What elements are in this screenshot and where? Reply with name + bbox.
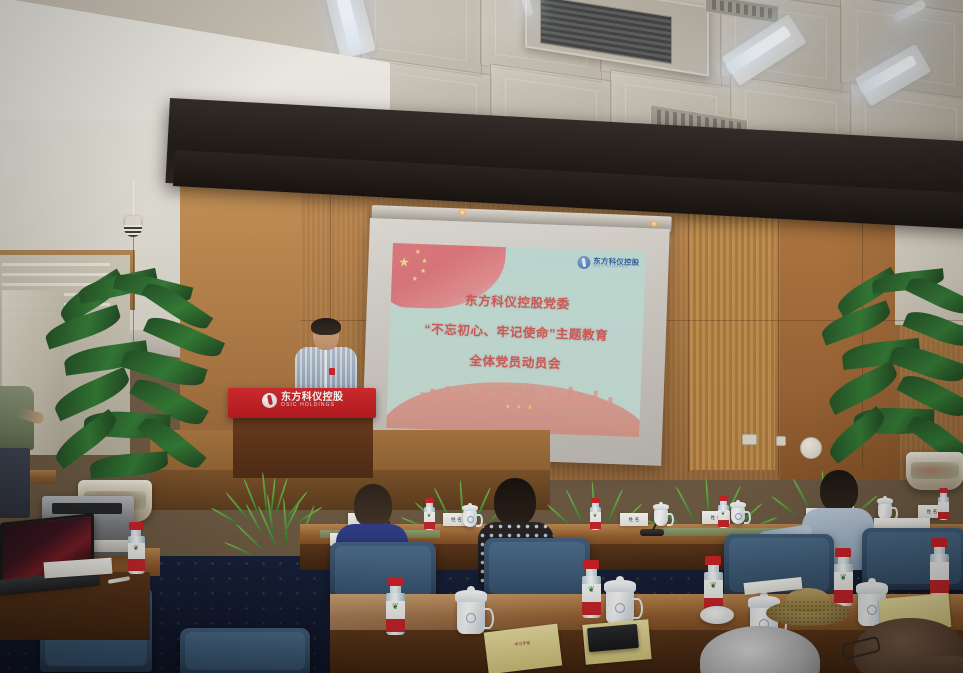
flag-star-icon: ★	[420, 268, 427, 275]
person-legs	[0, 448, 30, 518]
foreground-shoulder	[884, 656, 963, 673]
flag-star-icon: ★	[421, 258, 428, 265]
notebook-dark	[587, 624, 639, 652]
water-bottle: ❦	[718, 496, 729, 528]
water-bottle	[938, 488, 949, 520]
bottle-leaf-icon: ❦	[427, 514, 431, 519]
power-socket	[742, 434, 757, 445]
slide-logo: 东方科仪控股 OSIC HOLDINGS	[577, 256, 640, 271]
ceramic-tea-mug	[653, 502, 671, 526]
ceramic-tea-mug	[877, 496, 895, 520]
flag-star-icon: ★	[412, 276, 419, 283]
conference-room-photo: ★ ★ ★ ★ ★ 东方科仪控股 OSIC HOLDINGS 东方科仪控股党委 …	[0, 0, 963, 673]
printer-paper-slot	[52, 503, 122, 514]
standing-person-left	[0, 386, 38, 536]
foreground-person-gray-1	[700, 626, 820, 673]
mug-logo-icon	[615, 603, 625, 613]
slide-logo-en: OSIC HOLDINGS	[593, 265, 639, 270]
chair[interactable]	[180, 628, 310, 673]
person-head	[820, 470, 858, 512]
mug-logo-icon	[735, 513, 742, 520]
flag-star-icon: ★	[415, 249, 422, 256]
bottle-leaf-icon: ❦	[588, 587, 595, 592]
person-head	[494, 478, 536, 526]
water-bottle: ❦	[386, 577, 405, 635]
slide-line-3: 全体党员动员会	[388, 347, 642, 375]
power-socket	[776, 436, 786, 446]
water-bottle: ❦	[424, 498, 435, 530]
bottle-leaf-icon: ❦	[721, 512, 725, 517]
mug-logo-icon	[466, 613, 476, 623]
podium-body	[233, 416, 373, 478]
ceramic-tea-mug	[730, 500, 748, 524]
bottle-leaf-icon: ❦	[133, 546, 139, 551]
party-badge	[329, 368, 335, 375]
bottle-leaf-icon: ❦	[593, 514, 597, 519]
water-bottle: ❦	[128, 522, 145, 574]
straw-hat	[766, 588, 850, 626]
presenter	[295, 318, 357, 394]
ceramic-tea-mug	[455, 586, 491, 634]
study-booklet: 学习手册	[484, 624, 563, 673]
water-bottle: ❦	[582, 560, 601, 618]
flag-star-icon: ★	[398, 255, 410, 268]
ceramic-tea-mug	[604, 576, 640, 624]
osic-logo-icon	[577, 256, 590, 269]
palm-plant-right	[820, 272, 963, 482]
water-bottle	[930, 538, 949, 596]
slide-line-1: 东方科仪控股党委	[391, 287, 645, 315]
podium-brand-en: OSIC HOLDINGS	[281, 403, 343, 409]
water-bottle: ❦	[590, 498, 601, 530]
presentation-slide: ★ ★ ★ ★ ★ 东方科仪控股 OSIC HOLDINGS 东方科仪控股党委 …	[386, 243, 646, 437]
osic-logo-icon	[262, 393, 277, 408]
booklet-title: 学习手册	[485, 636, 559, 651]
person-head	[354, 484, 392, 528]
name-card-text: 姓 名	[620, 517, 648, 523]
hat-texture	[766, 600, 850, 626]
chair[interactable]	[484, 538, 590, 600]
palm-plant-left	[44, 272, 234, 502]
bottle-leaf-icon: ❦	[392, 604, 399, 609]
person-head	[700, 626, 820, 673]
plant-pot-right	[906, 452, 963, 490]
slide-line-2: “不忘初心、牢记使命”主题教育	[390, 317, 644, 345]
mug-logo-icon	[467, 516, 474, 523]
mug-logo-icon	[867, 605, 877, 615]
spider-plant-table-1	[236, 492, 310, 544]
bottle-leaf-icon: ❦	[710, 583, 717, 588]
slide-stars: ★ ★ ★	[505, 403, 535, 411]
camera-cable	[133, 180, 134, 218]
presenter-hair	[311, 318, 341, 335]
podium-logo: 东方科仪控股 OSIC HOLDINGS	[262, 392, 343, 409]
saucer-plate	[700, 606, 734, 624]
bottle-leaf-icon: ❦	[840, 575, 847, 580]
wall-speaker	[800, 437, 822, 459]
